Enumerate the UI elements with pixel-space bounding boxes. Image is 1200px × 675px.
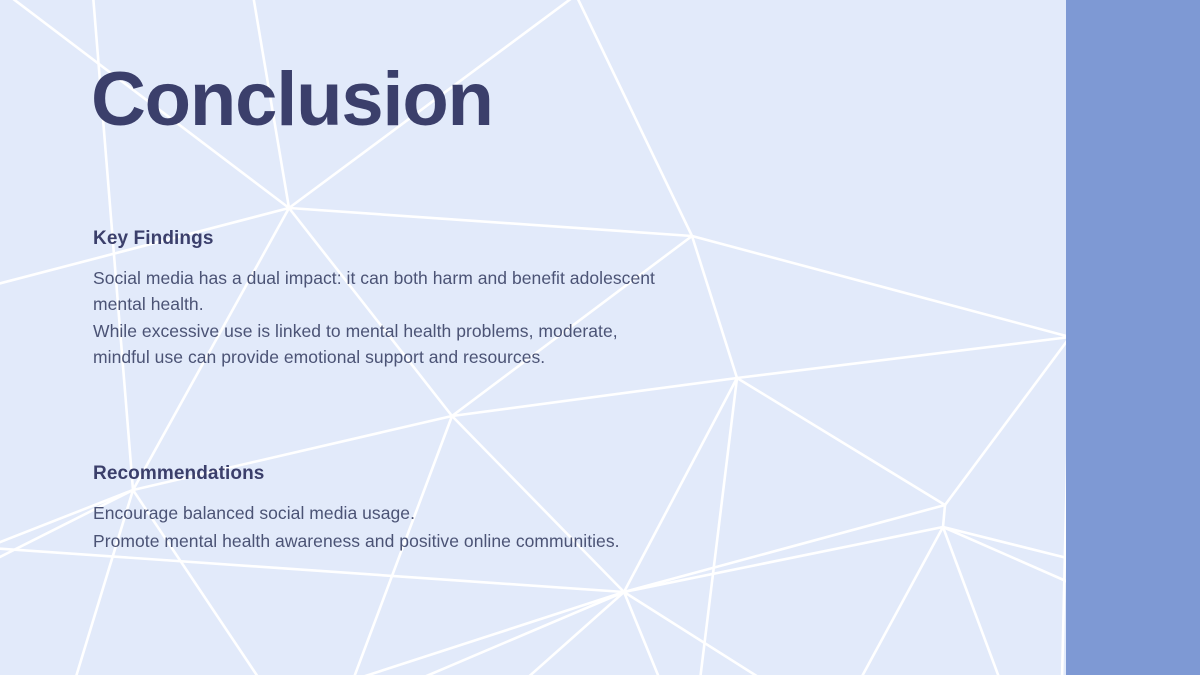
section-key-findings: Key Findings Social media has a dual imp…	[93, 228, 713, 373]
paragraph: Promote mental health awareness and posi…	[93, 529, 623, 555]
paragraph: While excessive use is linked to mental …	[93, 319, 668, 370]
section-body-key-findings: Social media has a dual impact: it can b…	[93, 266, 713, 371]
paragraph: Social media has a dual impact: it can b…	[93, 266, 668, 317]
section-heading-recommendations: Recommendations	[93, 463, 713, 485]
section-recommendations: Recommendations Encourage balanced socia…	[93, 463, 713, 556]
page-title: Conclusion	[91, 62, 493, 138]
section-body-recommendations: Encourage balanced social media usage. P…	[93, 501, 713, 554]
section-heading-key-findings: Key Findings	[93, 228, 713, 250]
slide-content: Conclusion Key Findings Social media has…	[0, 0, 1066, 675]
slide-canvas: Conclusion Key Findings Social media has…	[0, 0, 1200, 675]
paragraph: Encourage balanced social media usage.	[93, 501, 623, 527]
right-accent-band	[1066, 0, 1200, 675]
